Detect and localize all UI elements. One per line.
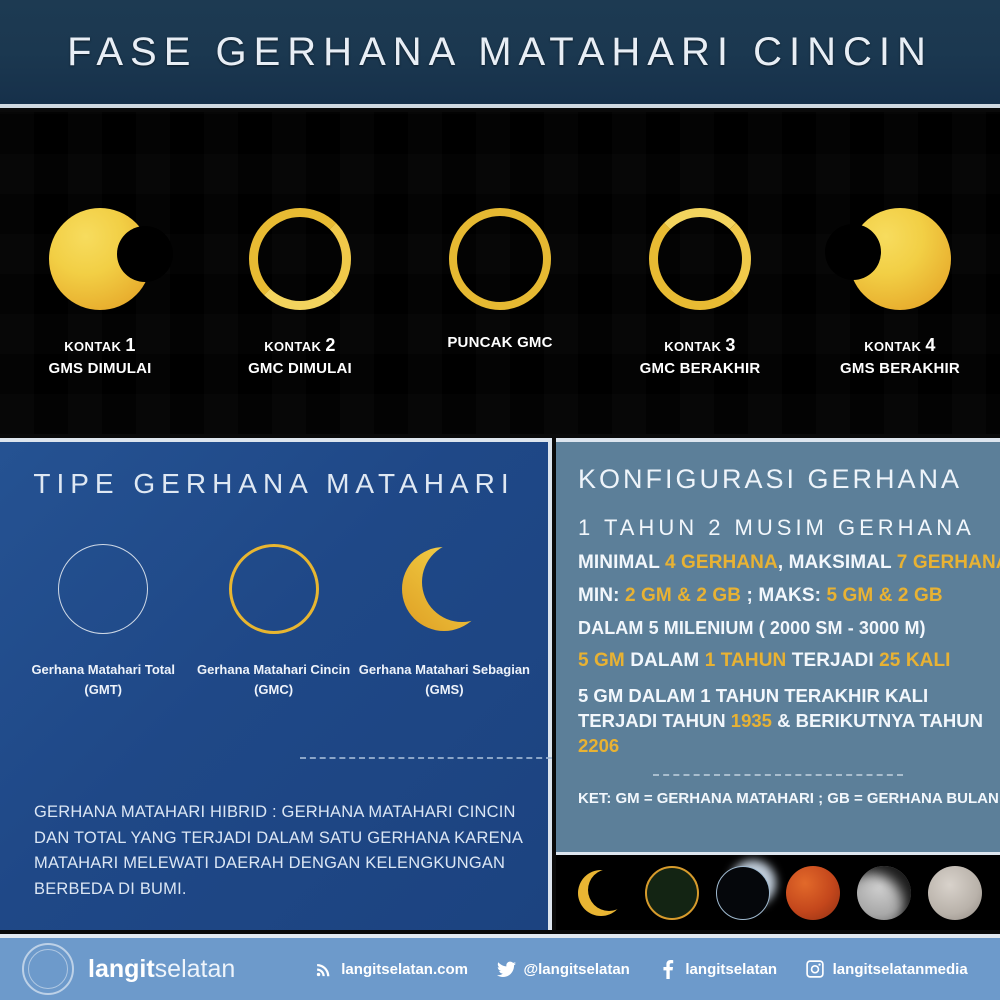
eclipse-phases-section: KONTAK 1 GMS DIMULAI KONTAK 2 GMC DIMULA…: [0, 112, 1000, 434]
phase-caption: KONTAK 4 GMS BERAKHIR: [840, 332, 960, 380]
phase-item-kontak-1: KONTAK 1 GMS DIMULAI: [0, 204, 200, 380]
phase-name: GMS DIMULAI: [48, 358, 151, 380]
last-occurrence-year: 1935: [731, 710, 772, 731]
phase-item-kontak-3: KONTAK 3 GMC BERAKHIR: [600, 204, 800, 380]
max-prefix: , MAKSIMAL: [778, 552, 897, 573]
footer-bar: langitselatan langitselatan.com: [0, 934, 1000, 1000]
type-label-gmt: Gerhana Matahari Total (GMT): [31, 660, 175, 699]
phase-name: GMS BERAKHIR: [840, 358, 960, 380]
eclipse-types-list: Gerhana Matahari Total (GMT) Gerhana Mat…: [0, 544, 548, 699]
infographic-page: FASE GERHANA MATAHARI CINCIN KONTAK 1 GM…: [0, 0, 1000, 1000]
frequency-line: 5 GM DALAM 1 TAHUN TERJADI 25 KALI: [556, 650, 1000, 672]
phase-contact-label: KONTAK 2: [248, 332, 352, 358]
phase-contact-number: 1: [125, 335, 135, 355]
link-twitter[interactable]: @langitselatan: [497, 960, 630, 979]
legend-text: KET: GM = GERHANA MATAHARI ; GB = GERHAN…: [556, 790, 1000, 807]
sun-bitten-left-icon: [845, 204, 955, 314]
thumbnail-blood-moon: [778, 864, 849, 922]
min-value: 4 GERHANA: [665, 552, 778, 573]
max-value: 7 GERHANA: [897, 552, 1000, 573]
frequency-period: 1 TAHUN: [705, 650, 787, 671]
gold-crescent-icon: [399, 544, 489, 634]
min-breakdown-value: 2 GM & 2 GB: [625, 585, 741, 606]
link-facebook[interactable]: langitselatan: [658, 960, 777, 979]
rss-icon: [314, 960, 333, 979]
thumbnail-partial-lunar-eclipse: [849, 864, 920, 922]
min-label: MIN:: [578, 585, 625, 606]
type-item-gms: Gerhana Matahari Sebagian (GMS): [359, 544, 530, 699]
brand-block[interactable]: langitselatan: [0, 943, 300, 995]
phase-caption: KONTAK 3 GMC BERAKHIR: [640, 332, 761, 380]
annulus-bright-bottom-icon: [245, 204, 355, 314]
sun-bitten-right-icon: [45, 204, 155, 314]
maks-breakdown-value: 5 GM & 2 GB: [826, 585, 942, 606]
phase-item-kontak-2: KONTAK 2 GMC DIMULAI: [200, 204, 400, 380]
type-name: Gerhana Matahari Cincin: [197, 660, 350, 680]
link-website-label: langitselatan.com: [341, 961, 468, 978]
social-links: langitselatan.com @langitselatan langits…: [300, 960, 1000, 979]
type-label-gms: Gerhana Matahari Sebagian (GMS): [359, 660, 530, 699]
page-title: FASE GERHANA MATAHARI CINCIN: [67, 30, 933, 75]
twitter-icon: [497, 960, 516, 979]
link-instagram[interactable]: langitselatanmedia: [806, 960, 968, 979]
eclipse-types-title: TIPE GERHANA MATAHARI: [0, 468, 548, 500]
link-facebook-label: langitselatan: [685, 961, 777, 978]
phase-caption: PUNCAK GMC: [447, 332, 552, 354]
frequency-join-1: DALAM: [625, 650, 705, 671]
phase-contact-label: KONTAK 1: [48, 332, 151, 358]
frequency-join-2: TERJADI: [786, 650, 879, 671]
min-prefix: MINIMAL: [578, 552, 665, 573]
type-name: Gerhana Matahari Sebagian: [359, 660, 530, 680]
last-occurrence-block: 5 GM DALAM 1 TAHUN TERAKHIR KALI TERJADI…: [556, 684, 1000, 758]
thumbnail-full-moon: [919, 864, 990, 922]
type-name: Gerhana Matahari Total: [31, 660, 175, 680]
right-panel-divider: [653, 774, 903, 776]
phase-item-kontak-4: KONTAK 4 GMS BERAKHIR: [800, 204, 1000, 380]
thumbnail-annular-crescent: [566, 864, 637, 922]
instagram-icon: [806, 960, 825, 979]
circle-outline-icon: [58, 544, 148, 634]
langitselatan-seal-logo-icon: [22, 943, 74, 995]
brand-name: langitselatan: [88, 955, 235, 984]
millennium-line: DALAM 5 MILENIUM ( 2000 SM - 3000 M): [556, 618, 1000, 639]
configuration-title: KONFIGURASI GERHANA: [556, 464, 1000, 495]
next-occurrence-year: 2206: [578, 735, 619, 756]
phase-contact-label: KONTAK 4: [840, 332, 960, 358]
link-twitter-label: @langitselatan: [524, 961, 630, 978]
frequency-times: 25 KALI: [879, 650, 950, 671]
type-abbr: (GMS): [359, 680, 530, 700]
phase-name: GMC BERAKHIR: [640, 358, 761, 380]
breakdown-separator: ;: [741, 585, 758, 606]
header-bar: FASE GERHANA MATAHARI CINCIN: [0, 0, 1000, 108]
frequency-count: 5 GM: [578, 650, 625, 671]
type-abbr: (GMT): [31, 680, 175, 700]
next-occurrence-prefix: & BERIKUTNYA TAHUN: [772, 710, 983, 731]
phase-contact-number: 2: [325, 335, 335, 355]
phase-row: KONTAK 1 GMS DIMULAI KONTAK 2 GMC DIMULA…: [0, 112, 1000, 434]
link-instagram-label: langitselatanmedia: [833, 961, 968, 978]
phase-contact-number: 4: [925, 335, 935, 355]
phase-name: PUNCAK GMC: [447, 332, 552, 354]
facebook-icon: [658, 960, 677, 979]
brand-name-light: selatan: [155, 955, 236, 983]
thumbnail-diamond-ring: [707, 864, 778, 922]
type-item-gmc: Gerhana Matahari Cincin (GMC): [188, 544, 358, 699]
eclipse-configuration-panel: KONFIGURASI GERHANA 1 TAHUN 2 MUSIM GERH…: [556, 438, 1000, 930]
thumbnail-dark-annular-ring: [637, 864, 708, 922]
phase-caption: KONTAK 1 GMS DIMULAI: [48, 332, 151, 380]
phase-contact-number: 3: [725, 335, 735, 355]
phase-name: GMC DIMULAI: [248, 358, 352, 380]
type-item-gmt: Gerhana Matahari Total (GMT): [18, 544, 188, 699]
phase-item-puncak: PUNCAK GMC: [400, 204, 600, 354]
gold-ring-icon: [229, 544, 319, 634]
link-website[interactable]: langitselatan.com: [314, 960, 468, 979]
annulus-even-icon: [445, 204, 555, 314]
phase-caption: KONTAK 2 GMC DIMULAI: [248, 332, 352, 380]
phase-contact-label: KONTAK 3: [640, 332, 761, 358]
annulus-bright-top-icon: [645, 204, 755, 314]
configuration-subtitle: 1 TAHUN 2 MUSIM GERHANA: [556, 515, 1000, 541]
type-abbr: (GMC): [197, 680, 350, 700]
eclipse-photo-strip: [556, 852, 1000, 930]
left-panel-divider: [300, 757, 552, 759]
min-maks-breakdown-line: MIN: 2 GM & 2 GB ; MAKS: 5 GM & 2 GB: [556, 585, 1000, 607]
type-label-gmc: Gerhana Matahari Cincin (GMC): [197, 660, 350, 699]
maks-label: MAKS:: [758, 585, 826, 606]
hybrid-eclipse-note: GERHANA MATAHARI HIBRID : GERHANA MATAHA…: [34, 800, 524, 902]
brand-name-bold: langit: [88, 955, 155, 983]
min-max-eclipses-line: MINIMAL 4 GERHANA, MAKSIMAL 7 GERHANA: [556, 552, 1000, 574]
